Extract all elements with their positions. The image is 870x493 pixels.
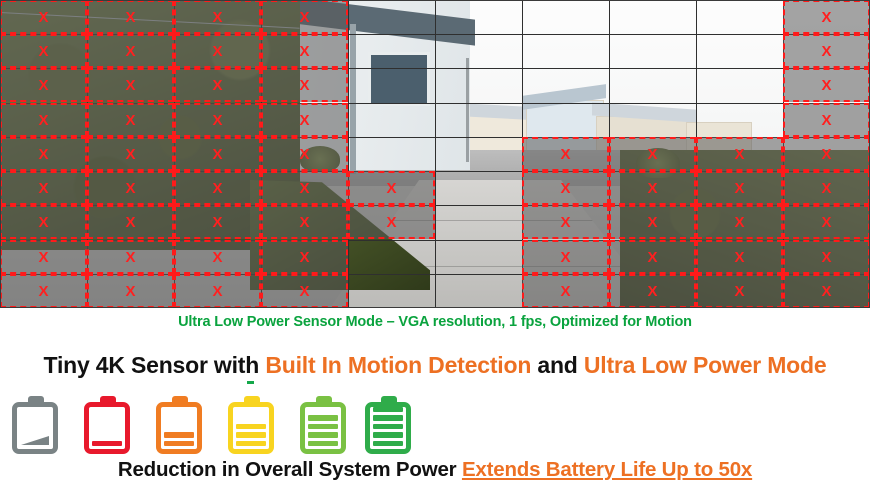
battery-bar [164,432,194,438]
battery-body [156,402,202,454]
battery-bars [233,424,269,447]
green-artifact-mark [247,381,254,384]
battery-bar [236,424,266,430]
headline-part2: and [531,352,584,378]
video-preview-frame: XXXXXXXXXXXXXXXXXXXXXXXXXXXXXXXXXXXXXXXX… [0,0,870,308]
battery-bars [305,415,341,446]
footer-tagline: Reduction in Overall System Power Extend… [0,458,870,482]
battery-bar [373,424,403,430]
battery-body [12,402,58,454]
headline-highlight-motion-detection: Built In Motion Detection [265,352,531,378]
battery-red-icon [82,396,134,454]
battery-light-green-icon [298,396,350,454]
battery-bar [236,441,266,447]
battery-yellow-icon [226,396,278,454]
footer-part1: Reduction in Overall System Power [118,458,462,481]
headline: Tiny 4K Sensor with Built In Motion Dete… [0,352,870,379]
frame-border [0,0,870,308]
battery-bar [373,407,403,413]
battery-bar [308,441,338,447]
battery-bar [308,432,338,438]
headline-highlight-low-power: Ultra Low Power Mode [584,352,827,378]
battery-bar [373,441,403,447]
battery-empty-wedge [21,436,49,445]
battery-green-icon [363,396,415,454]
mode-caption: Ultra Low Power Sensor Mode – VGA resolu… [0,314,870,330]
battery-bars [370,407,406,447]
battery-orange-icon [154,396,206,454]
battery-bar [308,415,338,421]
battery-bar [92,441,122,447]
battery-bars [89,441,125,447]
battery-bar [236,432,266,438]
battery-bars [161,432,197,446]
headline-part1: Tiny 4K Sensor with [44,352,266,378]
footer-highlight: Extends Battery Life Up to 50x [462,458,752,481]
battery-bar [373,415,403,421]
battery-bar [164,441,194,447]
battery-body [84,402,130,454]
battery-body [228,402,274,454]
battery-empty-gray-icon [10,396,62,454]
battery-bar [308,424,338,430]
battery-level-series [0,392,440,454]
battery-body [365,402,411,454]
battery-body [300,402,346,454]
battery-bar [373,432,403,438]
